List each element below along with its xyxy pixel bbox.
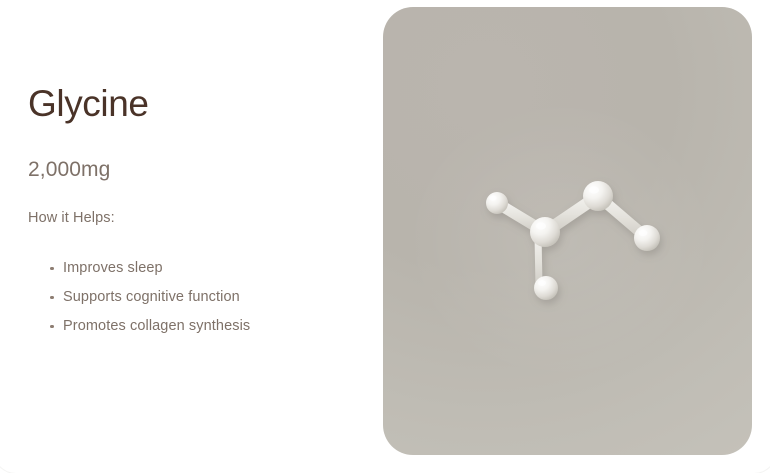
glycine-molecule-icon (383, 7, 752, 455)
molecule-atoms (486, 181, 660, 300)
atom-upper-left (486, 192, 508, 214)
page-title: Glycine (28, 84, 328, 123)
molecule-bonds (497, 196, 647, 287)
list-item: Improves sleep (28, 254, 260, 283)
list-item-label: Supports cognitive function (63, 289, 240, 305)
atom-lower-center (534, 276, 558, 300)
bullet-icon (50, 296, 54, 300)
list-item: Supports cognitive function (28, 283, 260, 312)
molecule-image-panel (383, 7, 752, 455)
atom-highlights (489, 186, 647, 286)
atom-upper-right (583, 181, 613, 211)
benefits-list: Improves sleep Supports cognitive functi… (28, 228, 260, 341)
list-item-label: Promotes collagen synthesis (63, 318, 250, 334)
product-info-column: Glycine 2,000mg How it Helps: Improves s… (28, 84, 328, 341)
list-item: Promotes collagen synthesis (28, 312, 260, 341)
atom-right (634, 225, 660, 251)
product-detail-page: Glycine 2,000mg How it Helps: Improves s… (0, 0, 770, 467)
product-dosage: 2,000mg (28, 123, 328, 181)
atom-center (530, 217, 560, 247)
list-item-label: Improves sleep (63, 260, 163, 276)
bullet-icon (50, 325, 54, 329)
bullet-icon (50, 267, 54, 271)
benefits-section-label: How it Helps: (28, 181, 328, 227)
